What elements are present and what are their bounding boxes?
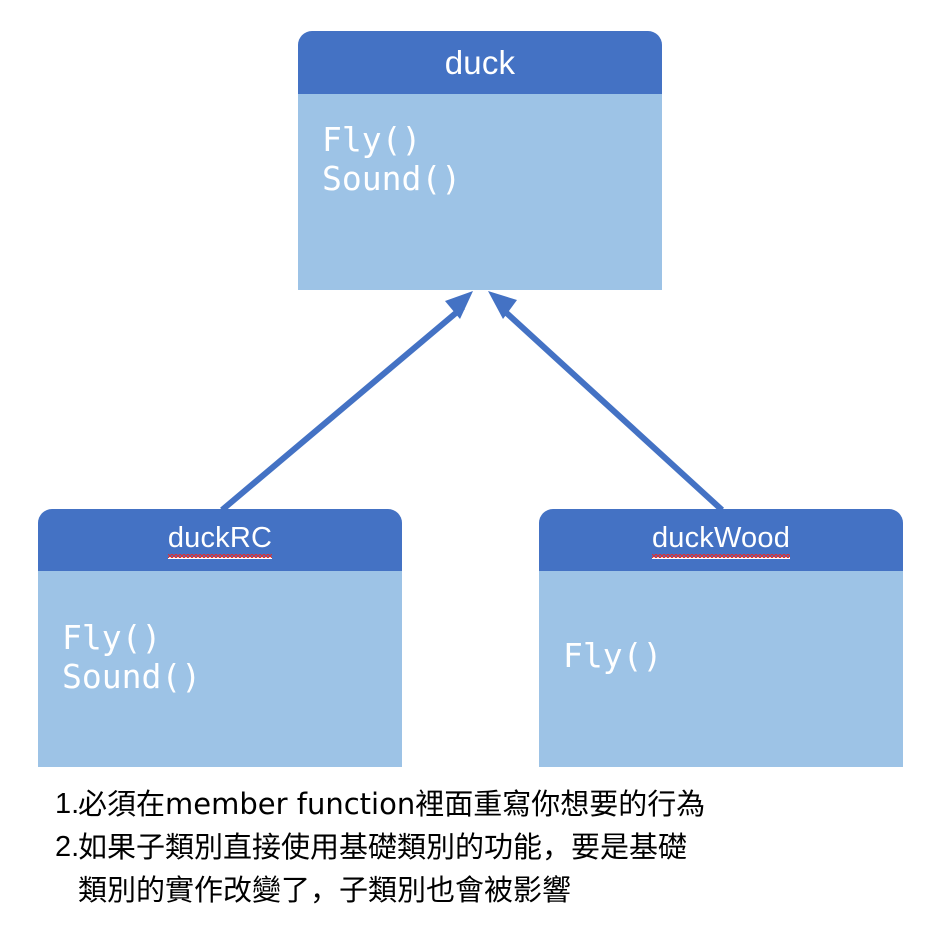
connector-line-duckwood xyxy=(500,307,722,510)
note-line-1-1: 必須在member function裡面重寫你想要的行為 xyxy=(78,787,705,821)
class-name-duckrc: duckRC xyxy=(168,522,272,559)
method-duckwood-fly: Fly() xyxy=(563,637,903,676)
inheritance-arrow-duckrc-to-duck xyxy=(222,291,473,510)
note-item-2: 2. 如果子類別直接使用基礎類別的功能，要是基礎 類別的實作改變了，子類別也會被… xyxy=(0,826,939,912)
class-header-duckwood: duckWood xyxy=(539,509,903,571)
class-header-duck: duck xyxy=(298,31,662,94)
class-body-duckrc: Fly() Sound() xyxy=(38,571,402,767)
note-text-2: 如果子類別直接使用基礎類別的功能，要是基礎 類別的實作改變了，子類別也會被影響 xyxy=(78,826,939,912)
class-body-duck: Fly() Sound() xyxy=(298,94,662,290)
note-line-2-2: 類別的實作改變了，子類別也會被影響 xyxy=(78,869,899,912)
method-duckrc-sound: Sound() xyxy=(62,658,402,697)
arrowhead-duckwood xyxy=(488,291,517,319)
method-duckrc-fly: Fly() xyxy=(62,619,402,658)
class-name-duckwood: duckWood xyxy=(652,522,790,559)
note-number-1: 1. xyxy=(0,783,78,826)
notes-list: 1. 必須在member function裡面重寫你想要的行為 2. 如果子類別… xyxy=(0,783,939,912)
arrowhead-duckrc xyxy=(445,291,473,319)
inheritance-arrow-duckwood-to-duck xyxy=(488,291,722,510)
note-number-2: 2. xyxy=(0,826,78,869)
method-duck-sound: Sound() xyxy=(322,160,662,199)
note-text-1: 必須在member function裡面重寫你想要的行為 xyxy=(78,783,939,826)
connector-line-duckrc xyxy=(222,307,463,510)
class-box-duckwood[interactable]: duckWood Fly() xyxy=(539,509,903,767)
class-header-duckrc: duckRC xyxy=(38,509,402,571)
class-body-duckwood: Fly() xyxy=(539,571,903,767)
method-duck-fly: Fly() xyxy=(322,121,662,160)
class-box-duckrc[interactable]: duckRC Fly() Sound() xyxy=(38,509,402,767)
note-item-1: 1. 必須在member function裡面重寫你想要的行為 xyxy=(0,783,939,826)
diagram-canvas: duck Fly() Sound() duckRC Fly() Sound() … xyxy=(0,0,939,940)
class-name-duck: duck xyxy=(445,44,516,82)
note-line-2-1: 如果子類別直接使用基礎類別的功能，要是基礎 xyxy=(78,830,687,864)
class-box-duck[interactable]: duck Fly() Sound() xyxy=(298,31,662,290)
